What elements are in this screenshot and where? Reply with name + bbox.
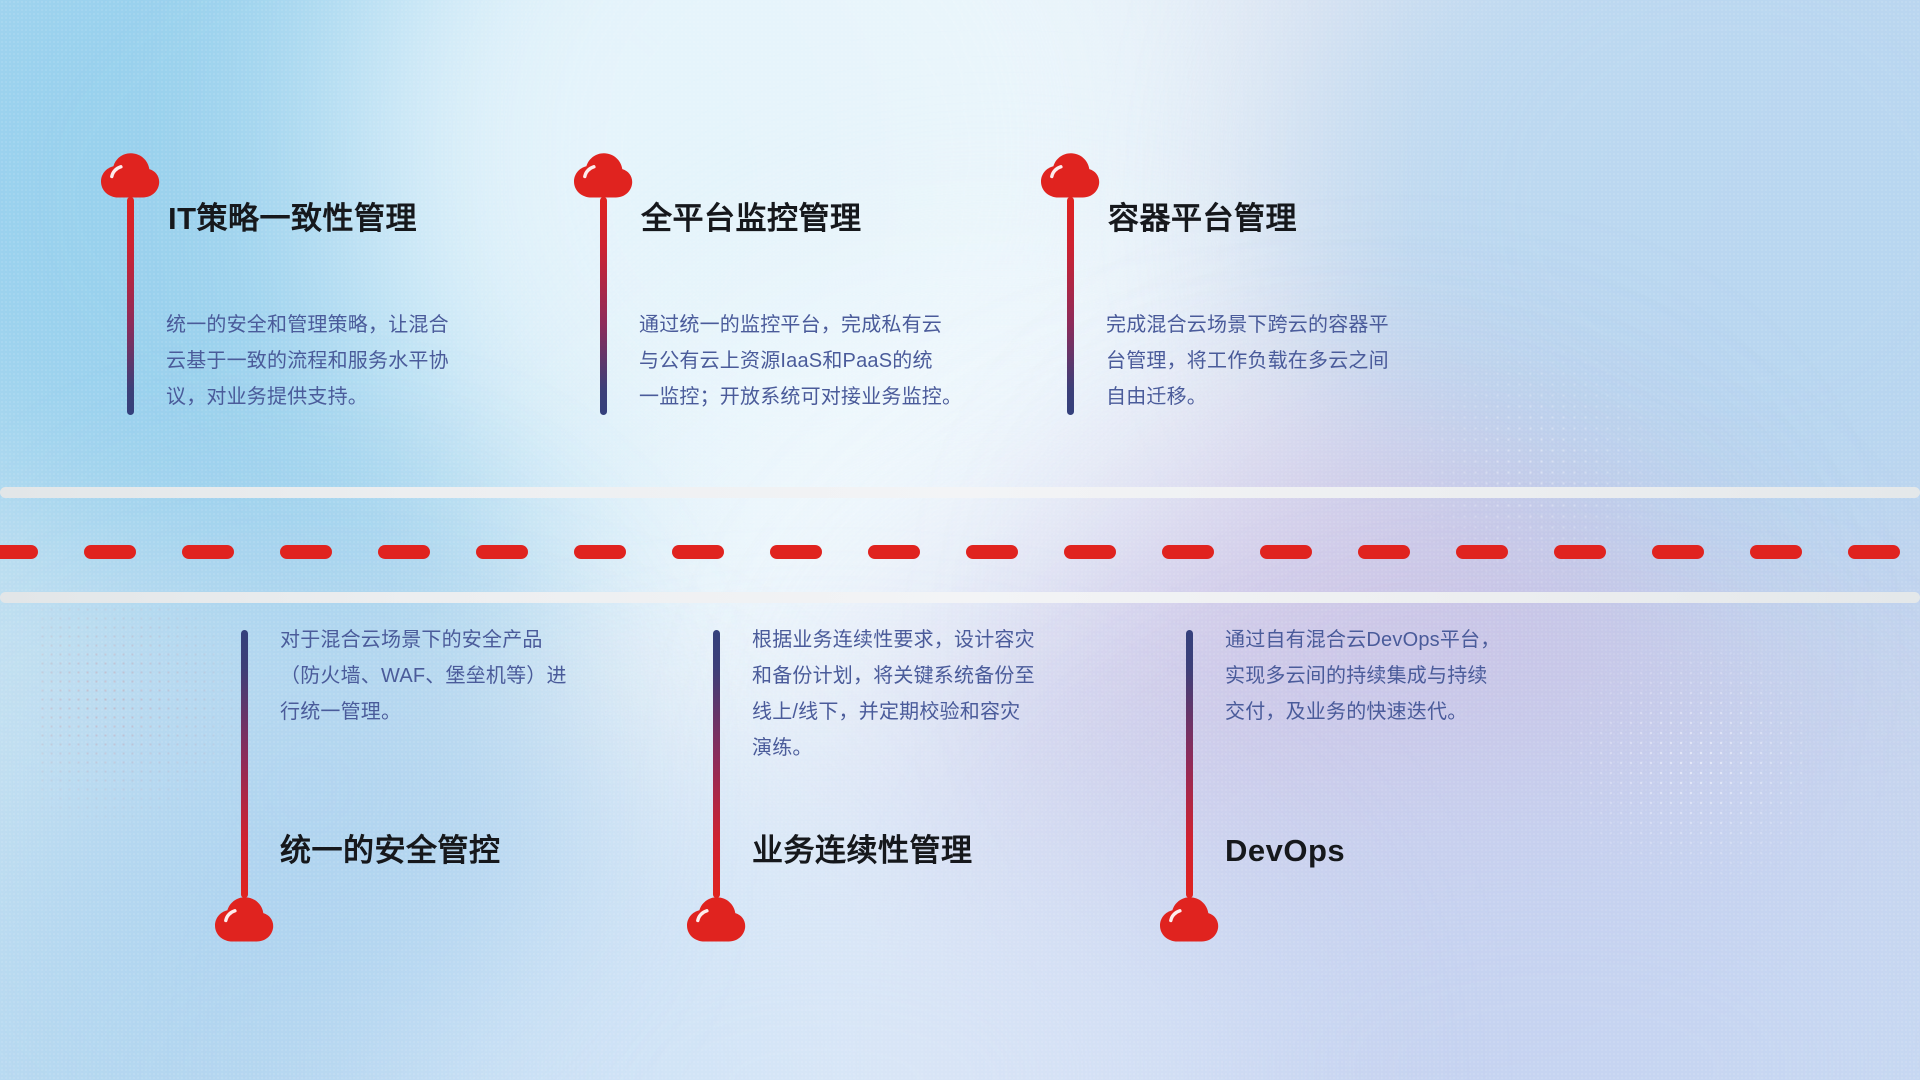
road-dash — [280, 545, 332, 559]
road-edge-bottom — [0, 592, 1920, 603]
feature-description: 根据业务连续性要求，设计容灾 和备份计划，将关键系统备份至 线上/线下，并定期校… — [752, 622, 1202, 766]
feature-description: 通过自有混合云DevOps平台， 实现多云间的持续集成与持续 交付，及业务的快速… — [1225, 622, 1675, 730]
pin-stem — [713, 630, 720, 898]
road-dash — [378, 545, 430, 559]
pin-stem — [1067, 197, 1074, 415]
road-dash — [182, 545, 234, 559]
road-dash — [0, 545, 38, 559]
pin-stem — [127, 197, 134, 415]
feature-description: 完成混合云场景下跨云的容器平 台管理，将工作负载在多云之间 自由迁移。 — [1106, 307, 1546, 415]
cloud-pin — [98, 152, 162, 415]
cloud-pin-icon — [98, 152, 162, 200]
road-dash — [1162, 545, 1214, 559]
pin-stem — [600, 197, 607, 415]
feature-title: 业务连续性管理 — [752, 835, 973, 866]
feature-title: 容器平台管理 — [1108, 203, 1297, 234]
feature-title: IT策略一致性管理 — [168, 203, 417, 234]
pin-stem — [241, 630, 248, 898]
road-dash — [1750, 545, 1802, 559]
road-dash — [1456, 545, 1508, 559]
road-dash-line — [0, 545, 1920, 559]
feature-title: 全平台监控管理 — [641, 203, 862, 234]
road-dash — [476, 545, 528, 559]
road-dash — [868, 545, 920, 559]
road-dash — [966, 545, 1018, 559]
cloud-pin — [684, 630, 748, 944]
cloud-pin — [212, 630, 276, 944]
feature-title: DevOps — [1225, 835, 1345, 866]
road-dash — [1848, 545, 1900, 559]
road-dash — [672, 545, 724, 559]
cloud-pin-icon — [212, 896, 276, 944]
road-dash — [1554, 545, 1606, 559]
road-dash — [1260, 545, 1312, 559]
road-divider — [0, 487, 1920, 603]
cloud-pin — [571, 152, 635, 415]
road-dash — [574, 545, 626, 559]
feature-description: 统一的安全和管理策略，让混合 云基于一致的流程和服务水平协 议，对业务提供支持。 — [166, 307, 606, 415]
cloud-pin — [1157, 630, 1221, 944]
road-dash — [770, 545, 822, 559]
road-edge-top — [0, 487, 1920, 498]
feature-description: 对于混合云场景下的安全产品 （防火墙、WAF、堡垒机等）进 行统一管理。 — [280, 622, 730, 730]
cloud-pin — [1038, 152, 1102, 415]
feature-title: 统一的安全管控 — [280, 835, 501, 866]
pin-stem — [1186, 630, 1193, 898]
road-dash — [1358, 545, 1410, 559]
road-dash — [1064, 545, 1116, 559]
feature-description: 通过统一的监控平台，完成私有云 与公有云上资源IaaS和PaaS的统 一监控；开… — [639, 307, 1079, 415]
cloud-pin-icon — [1038, 152, 1102, 200]
road-dash — [84, 545, 136, 559]
cloud-pin-icon — [571, 152, 635, 200]
cloud-pin-icon — [684, 896, 748, 944]
road-dash — [1652, 545, 1704, 559]
cloud-pin-icon — [1157, 896, 1221, 944]
